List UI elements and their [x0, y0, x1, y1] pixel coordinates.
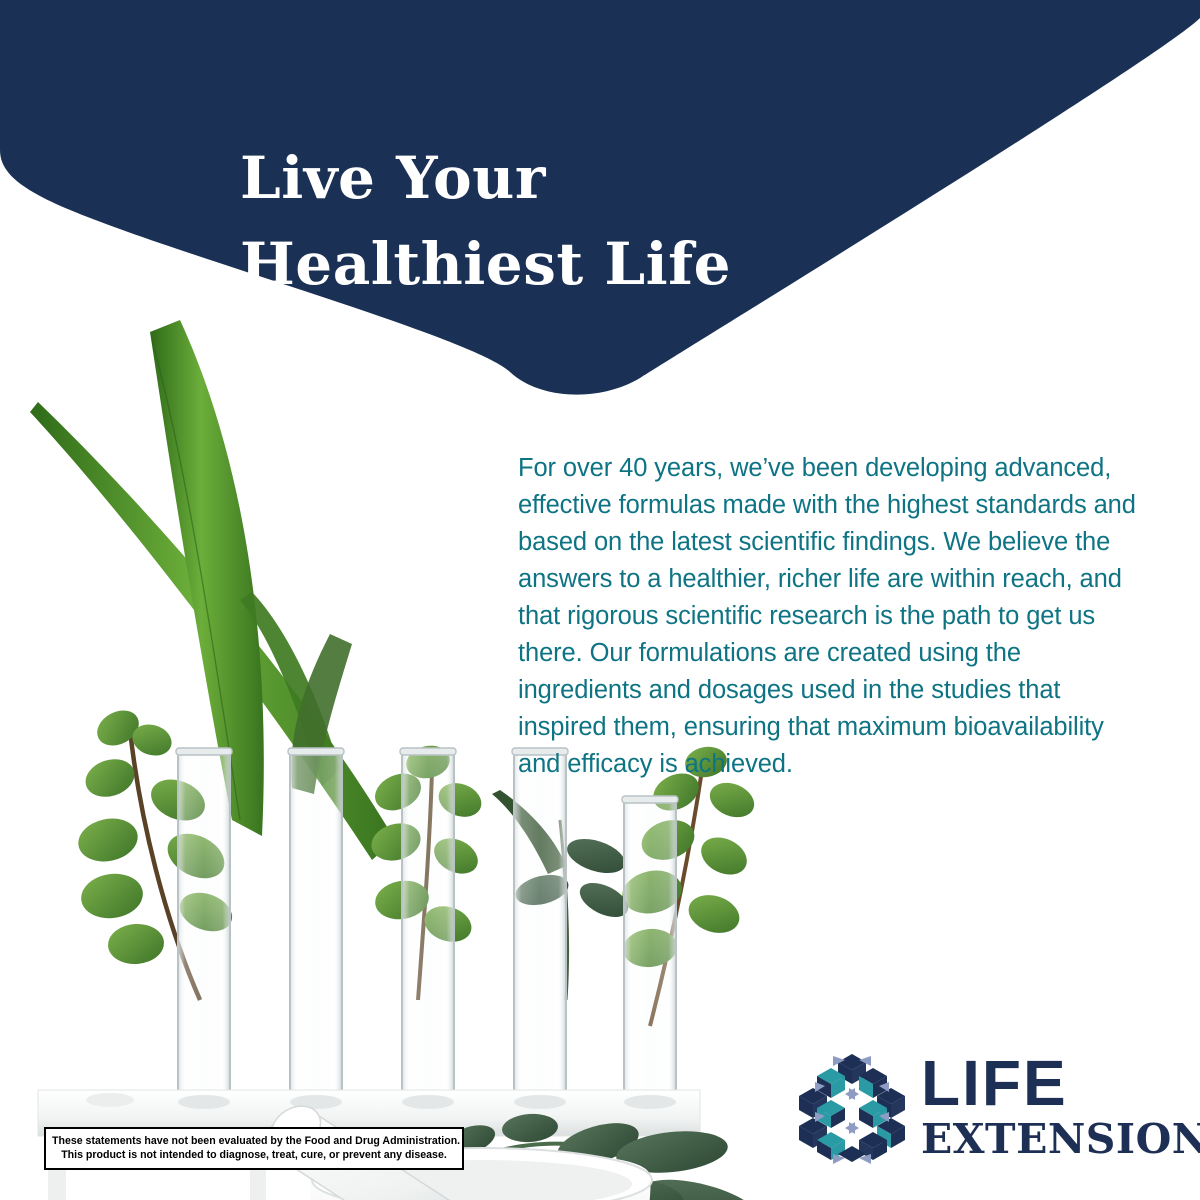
logo-life-text: LIFE	[921, 1053, 1200, 1113]
logo-wordmark: LIFE EXTENSION ®	[921, 1053, 1200, 1161]
disclaimer-line-2: This product is not intended to diagnose…	[52, 1148, 456, 1162]
disclaimer-line-1: These statements have not been evaluated…	[52, 1134, 456, 1148]
hexagon-cube-mark-icon	[793, 1048, 911, 1166]
body-paragraph: For over 40 years, we’ve been developing…	[518, 450, 1138, 783]
promotional-banner: Live Your Healthiest Life For over 40 ye…	[0, 0, 1200, 1200]
headline-line-1: Live Your	[240, 135, 1000, 221]
headline-line-2: Healthiest Life	[240, 221, 1000, 307]
life-extension-logo[interactable]: LIFE EXTENSION ®	[793, 1046, 1163, 1168]
fda-disclaimer-box: These statements have not been evaluated…	[44, 1127, 464, 1170]
logo-extension-text: EXTENSION	[921, 1117, 1200, 1161]
page-headline: Live Your Healthiest Life	[240, 135, 1000, 307]
